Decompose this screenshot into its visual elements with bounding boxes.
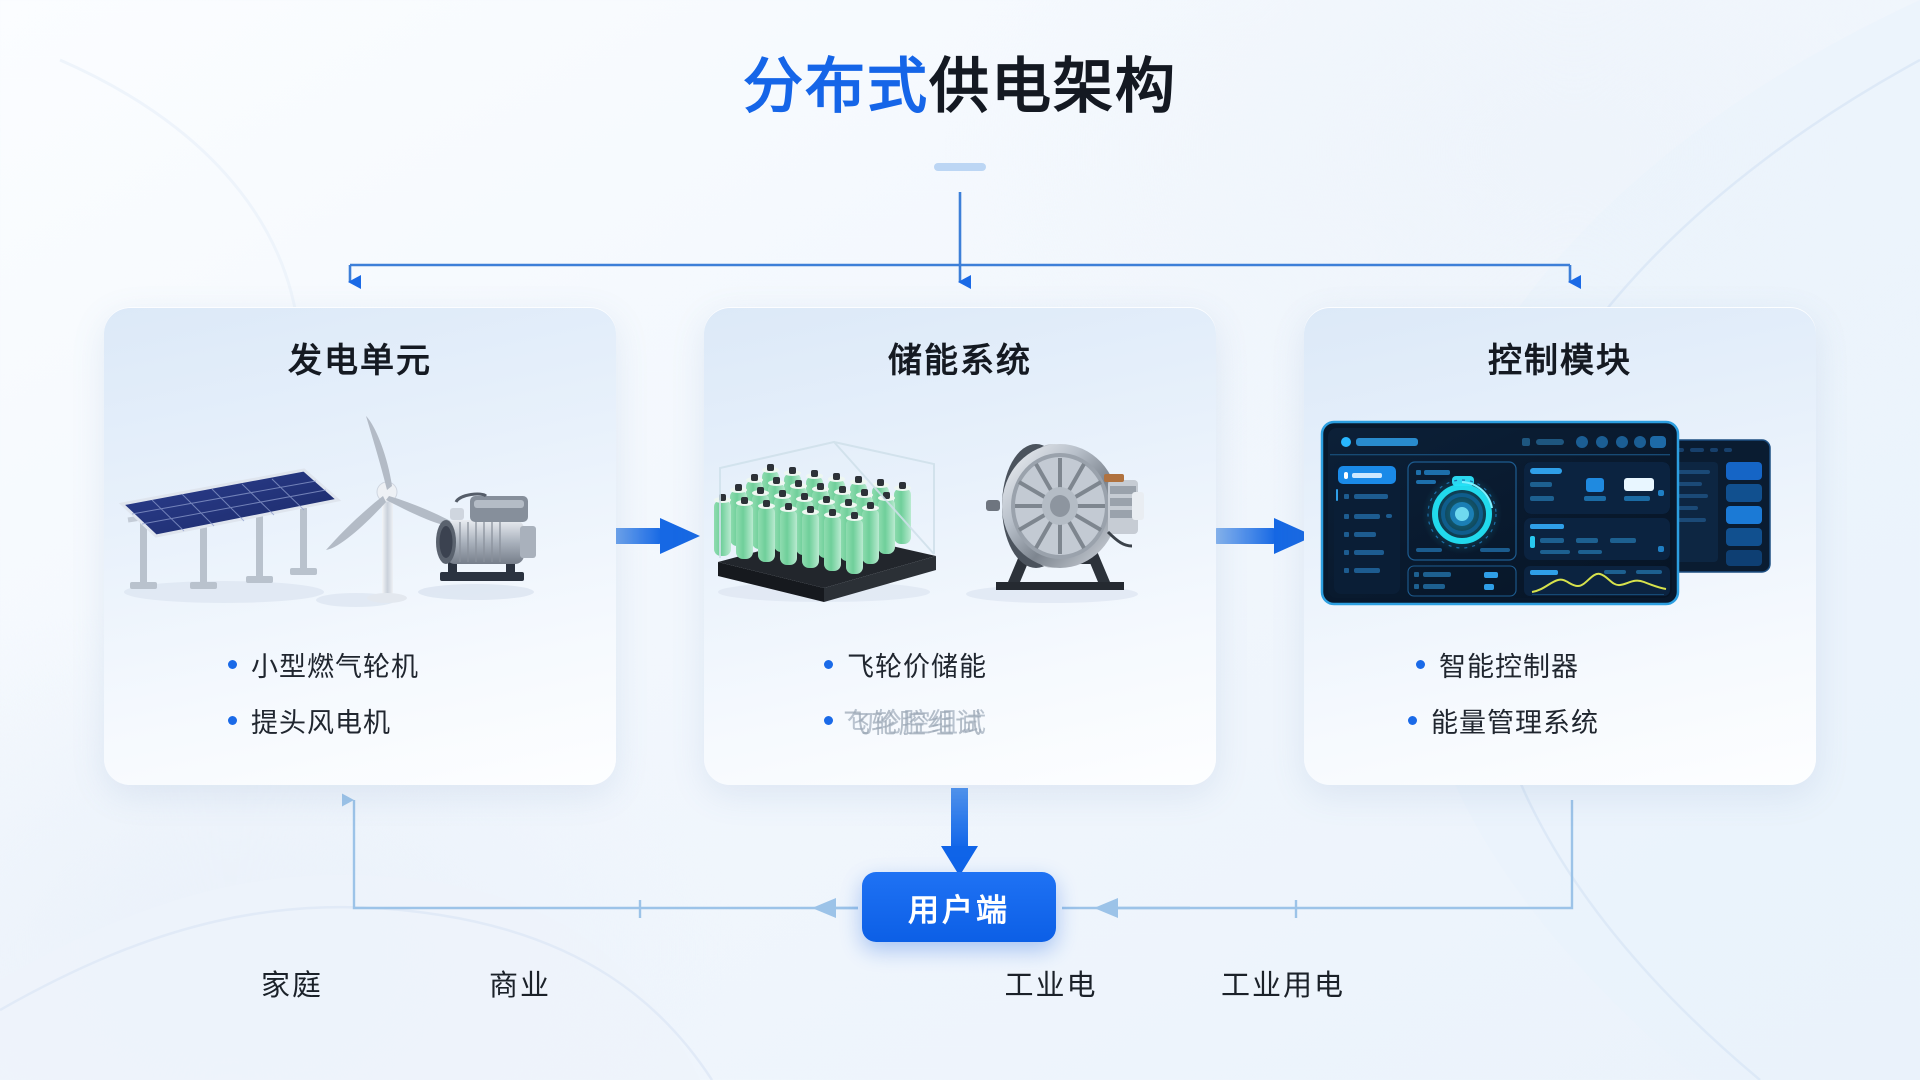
card-energy-storage-system[interactable]: 储能系统 — [704, 307, 1216, 785]
consumer-label-commercial: 商业 — [489, 962, 551, 1004]
bullet-dot-icon — [1416, 660, 1425, 669]
page-title-rest: 供电架构 — [929, 53, 1177, 120]
card-title: 储能系统 — [888, 333, 1032, 382]
title-underline-accent — [934, 163, 986, 171]
card-bullets: 智能控制器 能量管理系统 — [1304, 636, 1816, 748]
list-item-label: 能量管理系统 — [1431, 701, 1599, 740]
list-item-label-overlay: 飞轮腔组试 — [843, 702, 983, 741]
card-generation-unit[interactable]: 发电单元 — [104, 307, 616, 785]
list-item[interactable]: 智能控制器 — [1304, 636, 1816, 692]
consumer-label-industrial-power: 工业电 — [1004, 962, 1097, 1004]
solar-wind-generator-illustration — [104, 396, 616, 628]
card-bullets: 飞轮价储能 匂轮腔组试 飞轮腔组试 — [704, 636, 1216, 748]
bullet-dot-icon — [228, 660, 237, 669]
list-item[interactable]: 匂轮腔组试 飞轮腔组试 — [704, 692, 1216, 748]
consumer-label-industrial-usage: 工业用电 — [1221, 962, 1345, 1004]
list-item-label: 飞轮价储能 — [847, 645, 987, 684]
card-bullets: 小型燃气轮机 提头风电机 — [104, 636, 616, 748]
battery-pack-flywheel-illustration — [704, 396, 1216, 628]
architecture-cards: 发电单元 — [104, 307, 1816, 785]
bullet-dot-icon — [824, 716, 833, 725]
card-control-module[interactable]: 控制模块 — [1304, 307, 1816, 785]
list-item[interactable]: 提头风电机 — [104, 692, 616, 748]
list-item[interactable]: 小型燃气轮机 — [104, 636, 616, 692]
list-item-label: 智能控制器 — [1439, 645, 1579, 684]
user-endpoint-node[interactable]: 用户端 — [862, 872, 1056, 942]
card-title: 发电单元 — [288, 333, 432, 382]
list-item[interactable]: 能量管理系统 — [1304, 692, 1816, 748]
page-title: 分布式供电架构 — [0, 52, 1920, 121]
list-item-label: 小型燃气轮机 — [251, 645, 419, 684]
list-item-label: 提头风电机 — [251, 701, 391, 740]
page-title-accent: 分布式 — [743, 53, 929, 120]
card-title: 控制模块 — [1488, 333, 1632, 382]
control-dashboard-illustration — [1304, 396, 1816, 628]
bullet-dot-icon — [228, 716, 237, 725]
consumer-labels: 家庭 商业 工业电 工业用电 — [0, 962, 1920, 1012]
user-endpoint-label: 用户端 — [908, 885, 1010, 930]
consumer-label-household: 家庭 — [261, 962, 323, 1004]
list-item-label: 匂轮腔组试 飞轮腔组试 — [847, 701, 987, 740]
bullet-dot-icon — [1408, 716, 1417, 725]
list-item[interactable]: 飞轮价储能 — [704, 636, 1216, 692]
bullet-dot-icon — [824, 660, 833, 669]
